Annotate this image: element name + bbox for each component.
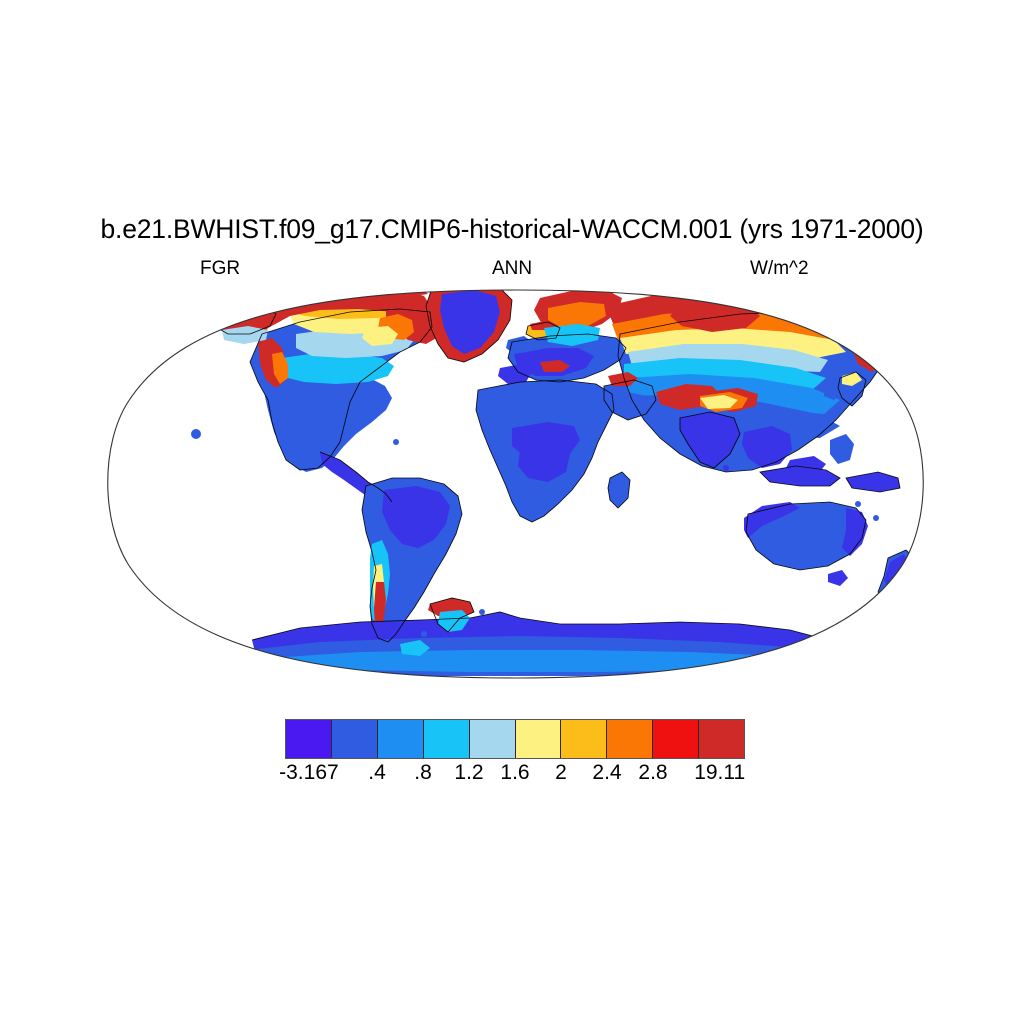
island-south-georgia: [479, 609, 485, 615]
region-arctic-islands-mix: [330, 284, 372, 293]
colorbar-swatch-6: [561, 720, 607, 758]
colorbar-swatch-0: [286, 720, 332, 758]
colorbar-tick-2: .8: [414, 760, 432, 786]
colorbar-tick-4: 1.6: [500, 760, 529, 786]
colorbar-swatch-3: [424, 720, 470, 758]
island-pacific-1: [873, 515, 879, 521]
season-label: ANN: [0, 257, 1024, 281]
colorbar-swatch-7: [607, 720, 653, 758]
colorbar-tick-5: 2: [555, 760, 567, 786]
colorbar-swatch-1: [332, 720, 378, 758]
colorbar-swatch-8: [653, 720, 699, 758]
colorbar-tick-labels: -3.167.4.81.21.622.42.819.11: [0, 760, 1024, 790]
colorbar-swatch-5: [516, 720, 562, 758]
island-hawaii: [191, 429, 201, 439]
colorbar-tick-1: .4: [368, 760, 386, 786]
colorbar: [285, 719, 745, 759]
colorbar-swatch-2: [378, 720, 424, 758]
island-caribbean-1: [393, 439, 399, 445]
island-sri-lanka: [723, 465, 729, 471]
colorbar-tick-8: 19.11: [694, 760, 745, 786]
region-arctic-islands: [300, 284, 428, 298]
units-label: W/m^2: [750, 257, 809, 281]
colorbar-tick-6: 2.4: [592, 760, 621, 786]
colorbar-tick-0: -3.167: [279, 760, 339, 786]
robinson-projection-map: [0, 282, 1024, 692]
colorbar-swatch-4: [470, 720, 516, 758]
figure-canvas: b.e21.BWHIST.f09_g17.CMIP6-historical-WA…: [0, 0, 1024, 1024]
colorbar-tick-7: 2.8: [638, 760, 667, 786]
map-plot: [0, 282, 1024, 692]
island-falkland: [421, 631, 427, 637]
page-title: b.e21.BWHIST.f09_g17.CMIP6-historical-WA…: [0, 213, 1024, 245]
colorbar-tick-3: 1.2: [454, 760, 483, 786]
island-pacific-2: [855, 501, 861, 507]
colorbar-swatch-9: [699, 720, 744, 758]
colorbar-swatches: [285, 719, 745, 759]
